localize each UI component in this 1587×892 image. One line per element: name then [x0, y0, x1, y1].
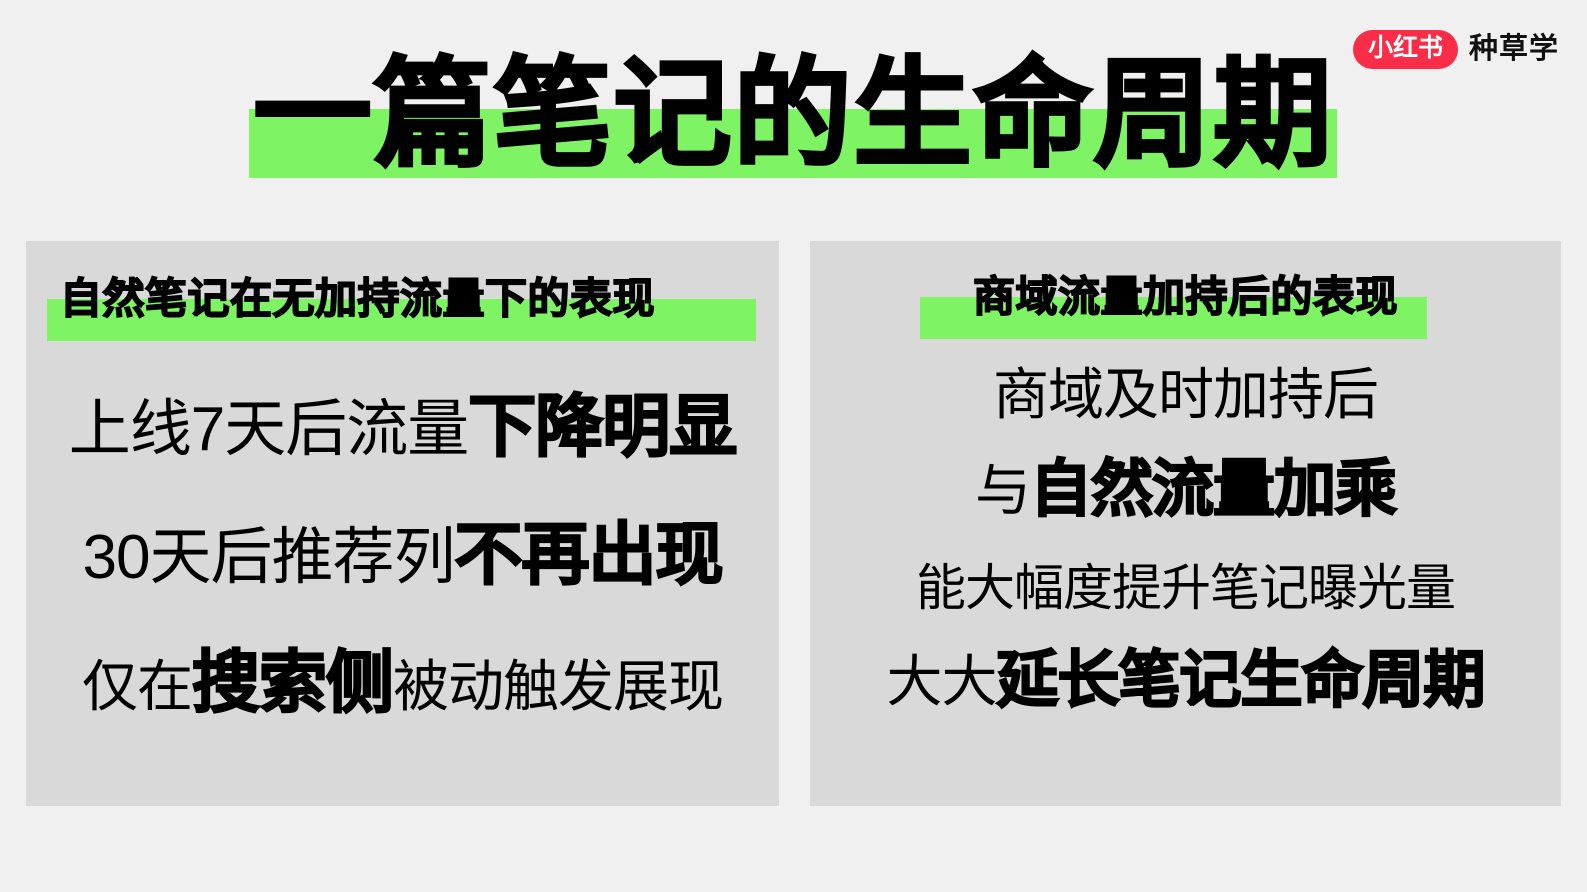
- statement-regular-prefix: 30天后推荐列: [83, 523, 455, 592]
- heading-text: 商域流量加持后的表现: [810, 264, 1561, 329]
- statement-regular-prefix: 大大: [886, 650, 996, 713]
- statement-regular-suffix: 被动触发展现: [393, 655, 723, 718]
- statement-regular-prefix: 上线7天后流量: [69, 395, 468, 464]
- statement-emphasis: 不再出现: [454, 517, 722, 593]
- card-heading: 自然笔记在无加持流量下的表现: [26, 266, 779, 344]
- card-organic-note: 自然笔记在无加持流量下的表现 上线7天后流量下降明显 30天后推荐列不再出现 仅…: [26, 241, 779, 806]
- statement-regular-prefix: 能大幅度提升笔记曝光量: [916, 560, 1455, 616]
- statement-regular-prefix: 商域及时加持后: [993, 363, 1378, 426]
- statement-emphasis: 下降明显: [468, 389, 736, 465]
- heading-text: 自然笔记在无加持流量下的表现: [26, 266, 779, 331]
- statement-line: 能大幅度提升笔记曝光量: [828, 552, 1543, 618]
- statement-line: 商域及时加持后: [828, 361, 1543, 427]
- statement-line: 上线7天后流量下降明显: [54, 391, 751, 463]
- statement-regular-prefix: 仅在: [82, 655, 192, 718]
- statement-line: 30天后推荐列不再出现: [54, 519, 751, 591]
- statement-line: 与自然流量加乘: [828, 457, 1543, 523]
- statement-regular-prefix: 与: [975, 459, 1030, 522]
- card-body: 商域及时加持后 与自然流量加乘 能大幅度提升笔记曝光量 大大延长笔记生命周期: [810, 361, 1561, 714]
- card-body: 上线7天后流量下降明显 30天后推荐列不再出现 仅在搜索侧被动触发展现: [26, 391, 779, 719]
- page-title: 一篇笔记的生命周期: [0, 46, 1587, 191]
- title-text: 一篇笔记的生命周期: [0, 46, 1587, 184]
- statement-emphasis: 搜索侧: [192, 645, 393, 721]
- statement-line: 大大延长笔记生命周期: [828, 648, 1543, 714]
- card-paid-boost: 商域流量加持后的表现 商域及时加持后 与自然流量加乘 能大幅度提升笔记曝光量 大…: [810, 241, 1561, 806]
- card-heading: 商域流量加持后的表现: [810, 264, 1561, 342]
- statement-line: 仅在搜索侧被动触发展现: [54, 647, 751, 719]
- statement-emphasis: 延长笔记生命周期: [996, 646, 1484, 715]
- statement-emphasis: 自然流量加乘: [1030, 455, 1396, 524]
